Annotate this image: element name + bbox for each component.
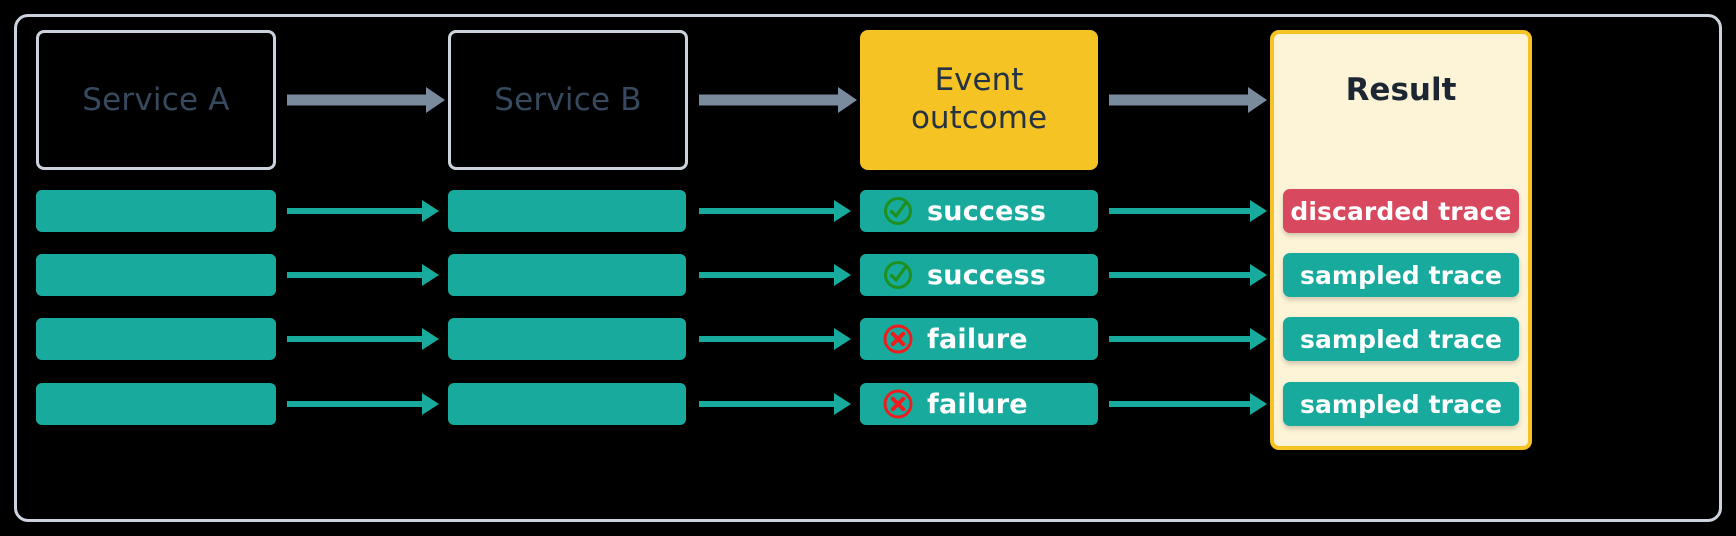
row-2-service-a-block bbox=[36, 254, 276, 296]
x-circle-icon bbox=[882, 388, 914, 420]
header-event-outcome: Event outcome bbox=[860, 30, 1098, 170]
row-1-outcome-block: success bbox=[860, 190, 1098, 232]
row-3-outcome-block: failure bbox=[860, 318, 1098, 360]
header-service-a-label: Service A bbox=[82, 82, 229, 118]
row-2-service-b-block bbox=[448, 254, 686, 296]
row-4-service-a-block bbox=[36, 383, 276, 425]
row-4-result-label: sampled trace bbox=[1300, 390, 1502, 419]
check-circle-icon bbox=[882, 195, 914, 227]
row-1-service-a-block bbox=[36, 190, 276, 232]
header-event-outcome-label: Event outcome bbox=[911, 62, 1047, 138]
row-2-outcome-label: success bbox=[927, 260, 1046, 291]
row-3-result-pill: sampled trace bbox=[1283, 317, 1519, 361]
header-event-outcome-line2: outcome bbox=[911, 100, 1047, 136]
row-2-outcome-block: success bbox=[860, 254, 1098, 296]
row-4-outcome-block: failure bbox=[860, 383, 1098, 425]
row-3-outcome-label: failure bbox=[927, 324, 1028, 355]
row-4-outcome-label: failure bbox=[927, 389, 1028, 420]
row-1-result-label: discarded trace bbox=[1290, 197, 1511, 226]
row-1-service-b-block bbox=[448, 190, 686, 232]
row-3-result-label: sampled trace bbox=[1300, 325, 1502, 354]
x-circle-icon bbox=[882, 323, 914, 355]
row-1-outcome-label: success bbox=[927, 196, 1046, 227]
row-2-result-label: sampled trace bbox=[1300, 261, 1502, 290]
row-4-service-b-block bbox=[448, 383, 686, 425]
row-1-result-pill: discarded trace bbox=[1283, 189, 1519, 233]
diagram-canvas: Service A Service B Event outcome Result bbox=[0, 0, 1736, 536]
header-service-b: Service B bbox=[448, 30, 688, 170]
row-4-result-pill: sampled trace bbox=[1283, 382, 1519, 426]
row-2-result-pill: sampled trace bbox=[1283, 253, 1519, 297]
row-3-service-b-block bbox=[448, 318, 686, 360]
row-3-service-a-block bbox=[36, 318, 276, 360]
header-service-a: Service A bbox=[36, 30, 276, 170]
header-event-outcome-line1: Event bbox=[935, 62, 1024, 98]
header-result-label: Result bbox=[1274, 34, 1528, 146]
check-circle-icon bbox=[882, 259, 914, 291]
header-service-b-label: Service B bbox=[494, 82, 642, 118]
